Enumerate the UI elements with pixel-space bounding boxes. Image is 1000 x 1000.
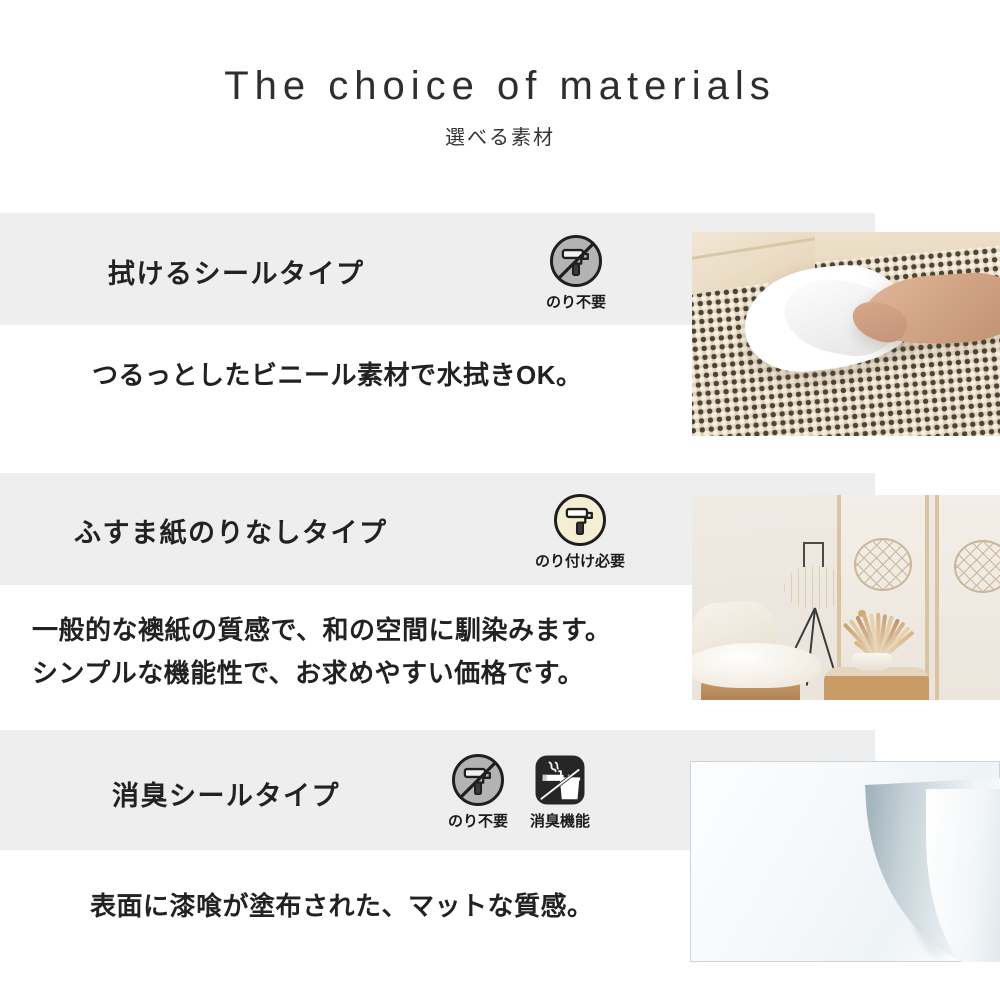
page-title: The choice of materials (0, 64, 1000, 108)
card-1-badges: のり不要 (542, 233, 610, 312)
card-3-title: 消臭シールタイプ (112, 774, 340, 813)
badge-deodorize-label: 消臭機能 (526, 810, 594, 831)
card-3-description-line-1: 表面に漆喰が塗布された、マットな質感。 (90, 888, 594, 926)
badge-no-glue-label: のり不要 (542, 291, 610, 312)
card-2-title: ふすま紙のりなしタイプ (74, 511, 388, 550)
paint-roller-prohibited-icon (548, 233, 604, 289)
paint-roller-prohibited-icon (450, 752, 506, 808)
hand-wiping-woven-mat-photo (692, 232, 1000, 436)
card-1-description-line-1: つるっとしたビニール素材で水拭きOK。 (92, 357, 583, 395)
material-choice-infographic: The choice of materials 選べる素材 拭けるシールタイプ (0, 0, 1000, 1000)
paint-roller-icon (552, 492, 608, 548)
card-2-description-line-1: 一般的な襖紙の質感で、和の空間に馴染みます。 (32, 612, 611, 650)
japanese-room-fusuma-photo (692, 495, 1000, 700)
card-2-badges: のり付け必要 (520, 492, 640, 571)
header: The choice of materials 選べる素材 (0, 0, 1000, 150)
deodorize-icon (532, 752, 588, 808)
badge-deodorize: 消臭機能 (526, 752, 594, 831)
page-subtitle: 選べる素材 (0, 121, 1000, 150)
badge-no-glue: のり不要 (542, 233, 610, 312)
badge-no-glue: のり不要 (444, 752, 512, 831)
card-2-description-line-2: シンプルな機能性で、お求めやすい価格です。 (32, 655, 584, 693)
badge-no-glue-label: のり不要 (444, 810, 512, 831)
white-curling-sheet-photo (690, 761, 1000, 962)
card-3-badges: のり不要 (444, 752, 594, 831)
badge-glue-required-label: のり付け必要 (520, 550, 640, 571)
card-1-title: 拭けるシールタイプ (108, 252, 365, 291)
badge-glue-required: のり付け必要 (520, 492, 640, 571)
